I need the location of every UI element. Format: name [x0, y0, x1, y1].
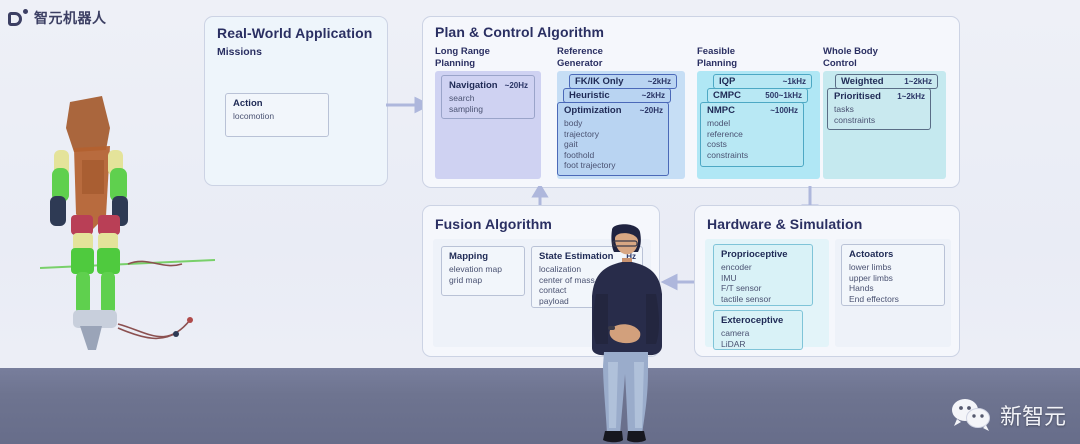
panel-title-fusion-algorithm: Fusion Algorithm	[435, 216, 552, 232]
card-iqp[interactable]: IQP ~1kHz	[713, 74, 812, 89]
card-frequency: 1~2kHz	[897, 92, 925, 101]
card-name: Mapping	[449, 251, 488, 262]
card-frequency: ~20Hz	[640, 106, 663, 115]
label-feasible-planning: Feasible Planning	[697, 46, 737, 69]
card-frequency: ~1kHz	[783, 77, 806, 86]
card-name: Prioritised	[834, 91, 881, 102]
card-name: Optimization	[564, 105, 622, 116]
watermark-text: 新智元	[1000, 399, 1066, 431]
brand-name: 智元机器人	[34, 8, 107, 28]
card-exteroceptive[interactable]: Exteroceptive camera LiDAR	[713, 310, 803, 350]
card-frequency: ~100Hz	[770, 106, 798, 115]
card-body: model reference costs constraints	[707, 118, 798, 160]
card-name: CMPC	[713, 90, 741, 101]
humanoid-robot-visualization	[40, 88, 215, 353]
panel-plan-control-algorithm: Plan & Control Algorithm Long Range Plan…	[422, 16, 960, 188]
panel-title-hardware-simulation: Hardware & Simulation	[707, 216, 862, 232]
card-name: Exteroceptive	[721, 315, 783, 326]
card-name: NMPC	[707, 105, 735, 116]
card-name: Navigation	[449, 80, 498, 91]
card-name: Proprioceptive	[721, 249, 788, 260]
card-body: elevation map grid map	[449, 264, 518, 285]
card-name: FK/IK Only	[575, 76, 624, 87]
agibot-logo-icon	[8, 9, 28, 27]
card-name: IQP	[719, 76, 735, 87]
card-frequency: ~2kHz	[648, 77, 671, 86]
card-weighted[interactable]: Weighted 1~2kHz	[835, 74, 938, 89]
label-reference-generator: Reference Generator	[557, 46, 603, 69]
watermark: 新智元	[950, 398, 1066, 432]
card-cmpc[interactable]: CMPC 500~1kHz	[707, 88, 808, 103]
card-frequency: 500~1kHz	[765, 91, 802, 100]
card-name: Actoators	[849, 249, 893, 260]
panel-title-real-world-application: Real-World Application	[217, 25, 372, 41]
card-proprioceptive[interactable]: Proprioceptive encoder IMU F/T sensor ta…	[713, 244, 813, 306]
panel-hardware-simulation: Hardware & Simulation Proprioceptive enc…	[694, 205, 960, 357]
card-frequency: ~20Hz	[505, 81, 528, 90]
presenter-person	[578, 222, 674, 444]
stage-floor	[0, 368, 1080, 444]
label-long-range-planning: Long Range Planning	[435, 46, 490, 69]
card-action[interactable]: Action locomotion	[225, 93, 329, 137]
card-prioritised[interactable]: Prioritised 1~2kHz tasks constraints	[827, 88, 931, 130]
card-name: Action	[233, 98, 263, 109]
card-navigation[interactable]: Navigation ~20Hz search sampling	[441, 75, 535, 119]
card-body: body trajectory gait foothold foot traje…	[564, 118, 663, 171]
slide-presentation-scene: 智元机器人 Real-World Application Missions	[0, 0, 1080, 444]
card-body: encoder IMU F/T sensor tactile sensor	[721, 262, 806, 304]
card-frequency: 1~2kHz	[904, 77, 932, 86]
brand-logo: 智元机器人	[8, 8, 107, 28]
card-nmpc[interactable]: NMPC ~100Hz model reference costs constr…	[700, 102, 804, 167]
card-mapping[interactable]: Mapping elevation map grid map	[441, 246, 525, 296]
card-body: tasks constraints	[834, 104, 925, 125]
label-missions: Missions	[217, 47, 262, 59]
card-optimization[interactable]: Optimization ~20Hz body trajectory gait …	[557, 102, 669, 176]
wechat-icon	[950, 398, 992, 432]
card-body: camera LiDAR	[721, 328, 796, 349]
card-actoators[interactable]: Actoators lower limbs upper limbs Hands …	[841, 244, 945, 306]
panel-title-plan-control: Plan & Control Algorithm	[435, 24, 604, 40]
card-body: lower limbs upper limbs Hands End effect…	[849, 262, 938, 304]
card-fkik-only[interactable]: FK/IK Only ~2kHz	[569, 74, 677, 89]
card-name: Weighted	[841, 76, 884, 87]
card-name: Heuristic	[569, 90, 610, 101]
card-body: search sampling	[449, 93, 528, 114]
card-heuristic[interactable]: Heuristic ~2kHz	[563, 88, 671, 103]
label-whole-body-control: Whole Body Control	[823, 46, 878, 69]
card-body: locomotion	[233, 111, 322, 122]
panel-real-world-application: Real-World Application Missions Action l…	[204, 16, 388, 186]
card-frequency: ~2kHz	[642, 91, 665, 100]
